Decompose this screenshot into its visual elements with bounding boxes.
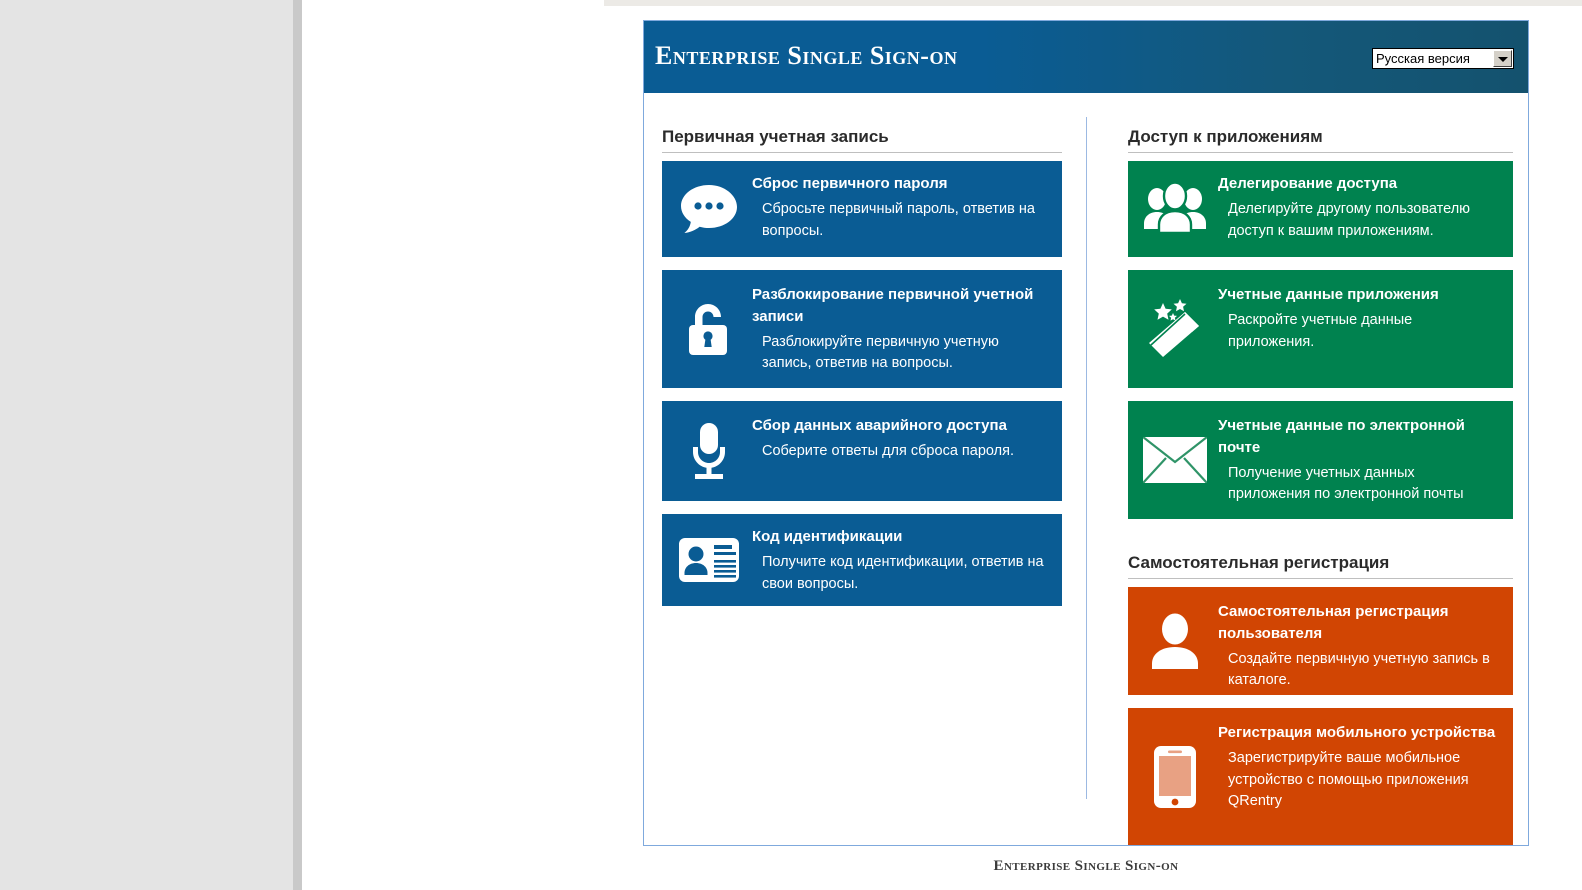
footer: Enterprise Single Sign-on xyxy=(643,858,1529,875)
card-description: Делегируйте другому пользователю доступ … xyxy=(1228,199,1499,243)
left-column: Первичная учетная запись Сброс первич xyxy=(662,93,1062,619)
app-header: Enterprise Single Sign-on Русская версия xyxy=(644,21,1528,93)
id-card-icon xyxy=(676,527,742,593)
card-reset-primary-password[interactable]: Сброс первичного пароля Сбросьте первичн… xyxy=(662,161,1062,257)
card-title: Разблокирование первичной учетной записи xyxy=(752,284,1048,328)
chevron-down-icon[interactable] xyxy=(1493,50,1512,67)
card-title: Учетные данные по электронной почте xyxy=(1218,415,1499,459)
speech-bubble-icon xyxy=(676,176,742,242)
card-description: Разблокируйте первичную учетную запись, … xyxy=(762,332,1048,376)
open-padlock-icon xyxy=(676,296,742,362)
mobile-phone-icon xyxy=(1142,744,1208,810)
footer-text: Enterprise Single Sign-on xyxy=(994,858,1179,874)
card-title: Код идентификации xyxy=(752,526,1048,548)
card-title: Сбор данных аварийного доступа xyxy=(752,415,1048,437)
section-title-application-access: Доступ к приложениям xyxy=(1128,127,1513,153)
card-body: Сброс первичного пароля Сбросьте первичн… xyxy=(752,173,1048,242)
card-body: Делегирование доступа Делегируйте другом… xyxy=(1218,173,1499,242)
card-title: Учетные данные приложения xyxy=(1218,284,1499,306)
section-title-self-registration: Самостоятельная регистрация xyxy=(1128,553,1513,579)
language-select-box[interactable]: Русская версия xyxy=(1372,48,1514,69)
card-body: Регистрация мобильного устройства Зареги… xyxy=(1218,720,1499,813)
magic-wand-icon xyxy=(1142,296,1208,362)
language-selector[interactable]: Русская версия xyxy=(1372,48,1514,74)
card-description: Создайте первичную учетную запись в ката… xyxy=(1228,649,1499,693)
card-description: Зарегистрируйте ваше мобильное устройств… xyxy=(1228,748,1499,813)
card-delegate-access[interactable]: Делегирование доступа Делегируйте другом… xyxy=(1128,161,1513,257)
card-description: Получите код идентификации, ответив на с… xyxy=(762,552,1048,596)
card-title: Сброс первичного пароля xyxy=(752,173,1048,195)
page-root: Enterprise Single Sign-on Русская версия… xyxy=(0,0,1582,890)
card-collect-emergency-access-data[interactable]: Сбор данных аварийного доступа Соберите … xyxy=(662,401,1062,501)
content-frame: Enterprise Single Sign-on Русская версия… xyxy=(643,20,1529,846)
envelope-icon xyxy=(1142,427,1208,493)
card-title: Самостоятельная регистрация пользователя xyxy=(1218,601,1499,645)
card-body: Учетные данные по электронной почте Полу… xyxy=(1218,413,1499,506)
card-description: Сбросьте первичный пароль, ответив на во… xyxy=(762,199,1048,243)
card-description: Получение учетных данных приложения по э… xyxy=(1228,463,1499,507)
language-select-value: Русская версия xyxy=(1376,51,1470,66)
card-body: Разблокирование первичной учетной записи… xyxy=(752,282,1048,375)
card-mobile-device-registration[interactable]: Регистрация мобильного устройства Зареги… xyxy=(1128,708,1513,845)
card-title: Регистрация мобильного устройства xyxy=(1218,722,1499,744)
card-application-credentials[interactable]: Учетные данные приложения Раскройте учет… xyxy=(1128,270,1513,388)
page-left-gutter xyxy=(293,0,302,890)
card-body: Код идентификации Получите код идентифик… xyxy=(752,526,1048,595)
card-body: Сбор данных аварийного доступа Соберите … xyxy=(752,413,1048,463)
section-title-primary-account: Первичная учетная запись xyxy=(662,127,1062,153)
card-description: Раскройте учетные данные приложения. xyxy=(1228,310,1499,354)
card-body: Учетные данные приложения Раскройте учет… xyxy=(1218,282,1499,353)
top-strip xyxy=(604,0,1582,6)
content-body: Первичная учетная запись Сброс первич xyxy=(644,93,1528,845)
card-title: Делегирование доступа xyxy=(1218,173,1499,195)
card-unlock-primary-account[interactable]: Разблокирование первичной учетной записи… xyxy=(662,270,1062,388)
card-credentials-by-email[interactable]: Учетные данные по электронной почте Полу… xyxy=(1128,401,1513,519)
card-self-user-registration[interactable]: Самостоятельная регистрация пользователя… xyxy=(1128,587,1513,695)
right-column: Доступ к приложениям xyxy=(1128,93,1513,858)
person-icon xyxy=(1142,608,1208,674)
column-divider xyxy=(1086,117,1087,799)
page-title: Enterprise Single Sign-on xyxy=(655,41,957,71)
microphone-icon xyxy=(676,418,742,484)
card-description: Соберите ответы для сброса пароля. xyxy=(762,441,1048,463)
document-sheet: Enterprise Single Sign-on Русская версия… xyxy=(302,0,1582,890)
card-identification-code[interactable]: Код идентификации Получите код идентифик… xyxy=(662,514,1062,606)
people-group-icon xyxy=(1142,176,1208,242)
card-body: Самостоятельная регистрация пользователя… xyxy=(1218,599,1499,692)
